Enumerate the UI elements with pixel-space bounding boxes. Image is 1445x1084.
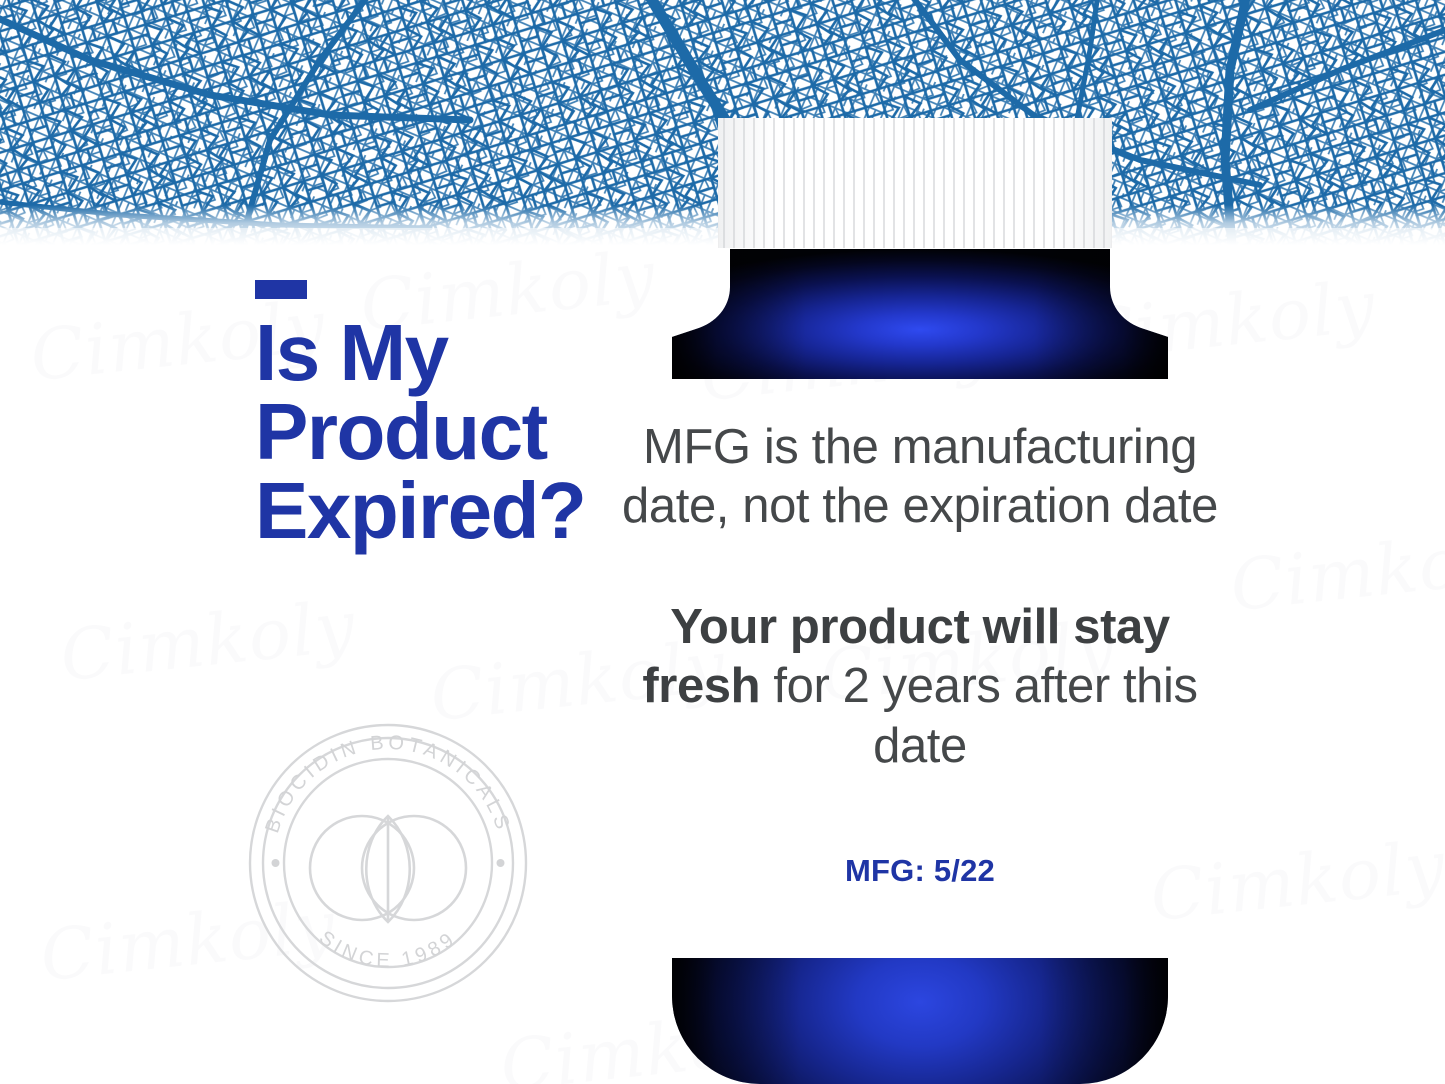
headline-block: Is My Product Expired? [255, 280, 675, 551]
headline-line-3: Expired? [255, 471, 675, 550]
copy-column: MFG is the manufacturing date, not the e… [620, 418, 1220, 889]
bottle-base [672, 958, 1168, 1084]
svg-text:SINCE 1989: SINCE 1989 [315, 927, 461, 972]
watermark-text: Cimkoly [1227, 515, 1445, 627]
bottle-base-shading [672, 958, 1168, 1084]
bottle-cap-shading [719, 118, 1111, 248]
mfg-date-label: MFG: 5/22 [620, 777, 1220, 889]
freshness-text: Your product will stay fresh for 2 years… [620, 536, 1220, 777]
bottle-cap [718, 118, 1112, 248]
mfg-explanation-line-1: MFG is the [643, 420, 879, 474]
page-title: Is My Product Expired? [255, 313, 675, 551]
brand-seal-watermark: BIOCIDIN BOTANICALS SINCE 1989 [243, 718, 533, 1008]
watermark-text: Cimkoly [57, 585, 360, 697]
headline-line-1: Is My [255, 313, 675, 392]
headline-accent-dash [255, 280, 307, 299]
mfg-explanation-text: MFG is the manufacturing date, not the e… [620, 418, 1220, 536]
freshness-line-1: Your product will [670, 600, 1060, 654]
freshness-duration: for 2 years [760, 659, 1000, 713]
mfg-explanation-line-3: not the expiration date [742, 479, 1218, 533]
headline-line-2: Product [255, 392, 675, 471]
bottle-shoulder [672, 249, 1168, 379]
brand-seal-bottom-text: SINCE 1989 [315, 927, 461, 972]
poster-canvas: Cimkoly Cimkoly Cimkoly Cimkoly Cimkoly … [0, 0, 1445, 1084]
